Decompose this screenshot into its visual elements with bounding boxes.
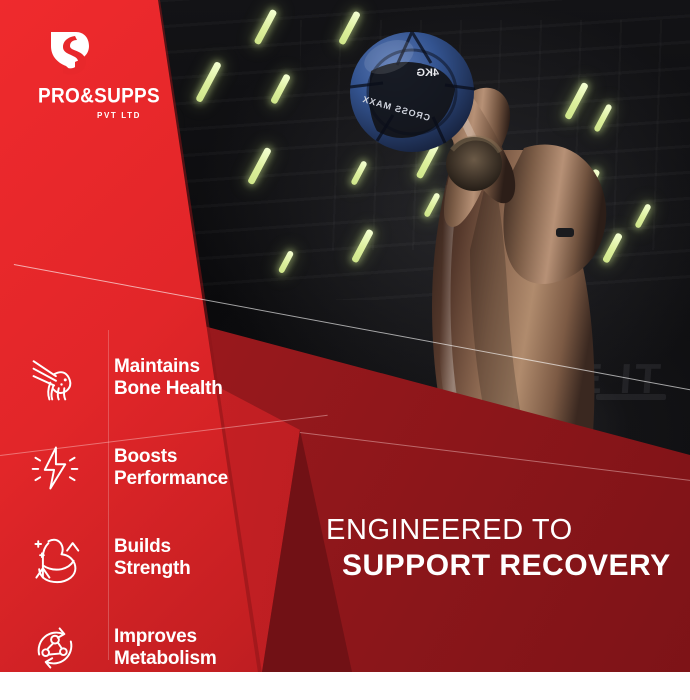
headline-line-2: SUPPORT RECOVERY [342, 549, 671, 583]
flexed-bicep-icon [24, 527, 86, 589]
feature-item-strength[interactable]: Builds Strength [24, 516, 274, 600]
headline-block: ENGINEERED TO SUPPORT RECOVERY [326, 514, 671, 584]
headline-line-1: ENGINEERED TO [326, 514, 671, 546]
swoosh-s-mark-icon [46, 28, 92, 80]
feature-label: Boosts Performance [114, 446, 228, 491]
ad-banner: LIVE IT [0, 0, 690, 700]
brand-name: PRO&SUPPS [38, 86, 158, 107]
feature-label: Builds Strength [114, 536, 191, 581]
brand-suffix: PVT LTD [38, 111, 158, 120]
knee-joint-icon [24, 347, 86, 409]
ball-weight-text: 4KG [416, 67, 439, 79]
metabolism-cycle-icon [24, 617, 86, 679]
feature-item-performance[interactable]: Boosts Performance [24, 426, 274, 510]
arm-right-shoulder [503, 145, 606, 284]
feature-list: Maintains Bone Health Boosts Performance [24, 336, 274, 696]
medicine-ball: 4KG CROSS MAXX [349, 31, 476, 153]
feature-item-metabolism[interactable]: Improves Metabolism [24, 606, 274, 690]
feature-item-bone-health[interactable]: Maintains Bone Health [24, 336, 274, 420]
arm-strap [556, 228, 574, 237]
feature-label: Maintains Bone Health [114, 356, 223, 401]
feature-label: Improves Metabolism [114, 626, 217, 671]
brand-logo[interactable]: PRO&SUPPS PVT LTD [38, 28, 158, 120]
lightning-bolt-icon [24, 437, 86, 499]
